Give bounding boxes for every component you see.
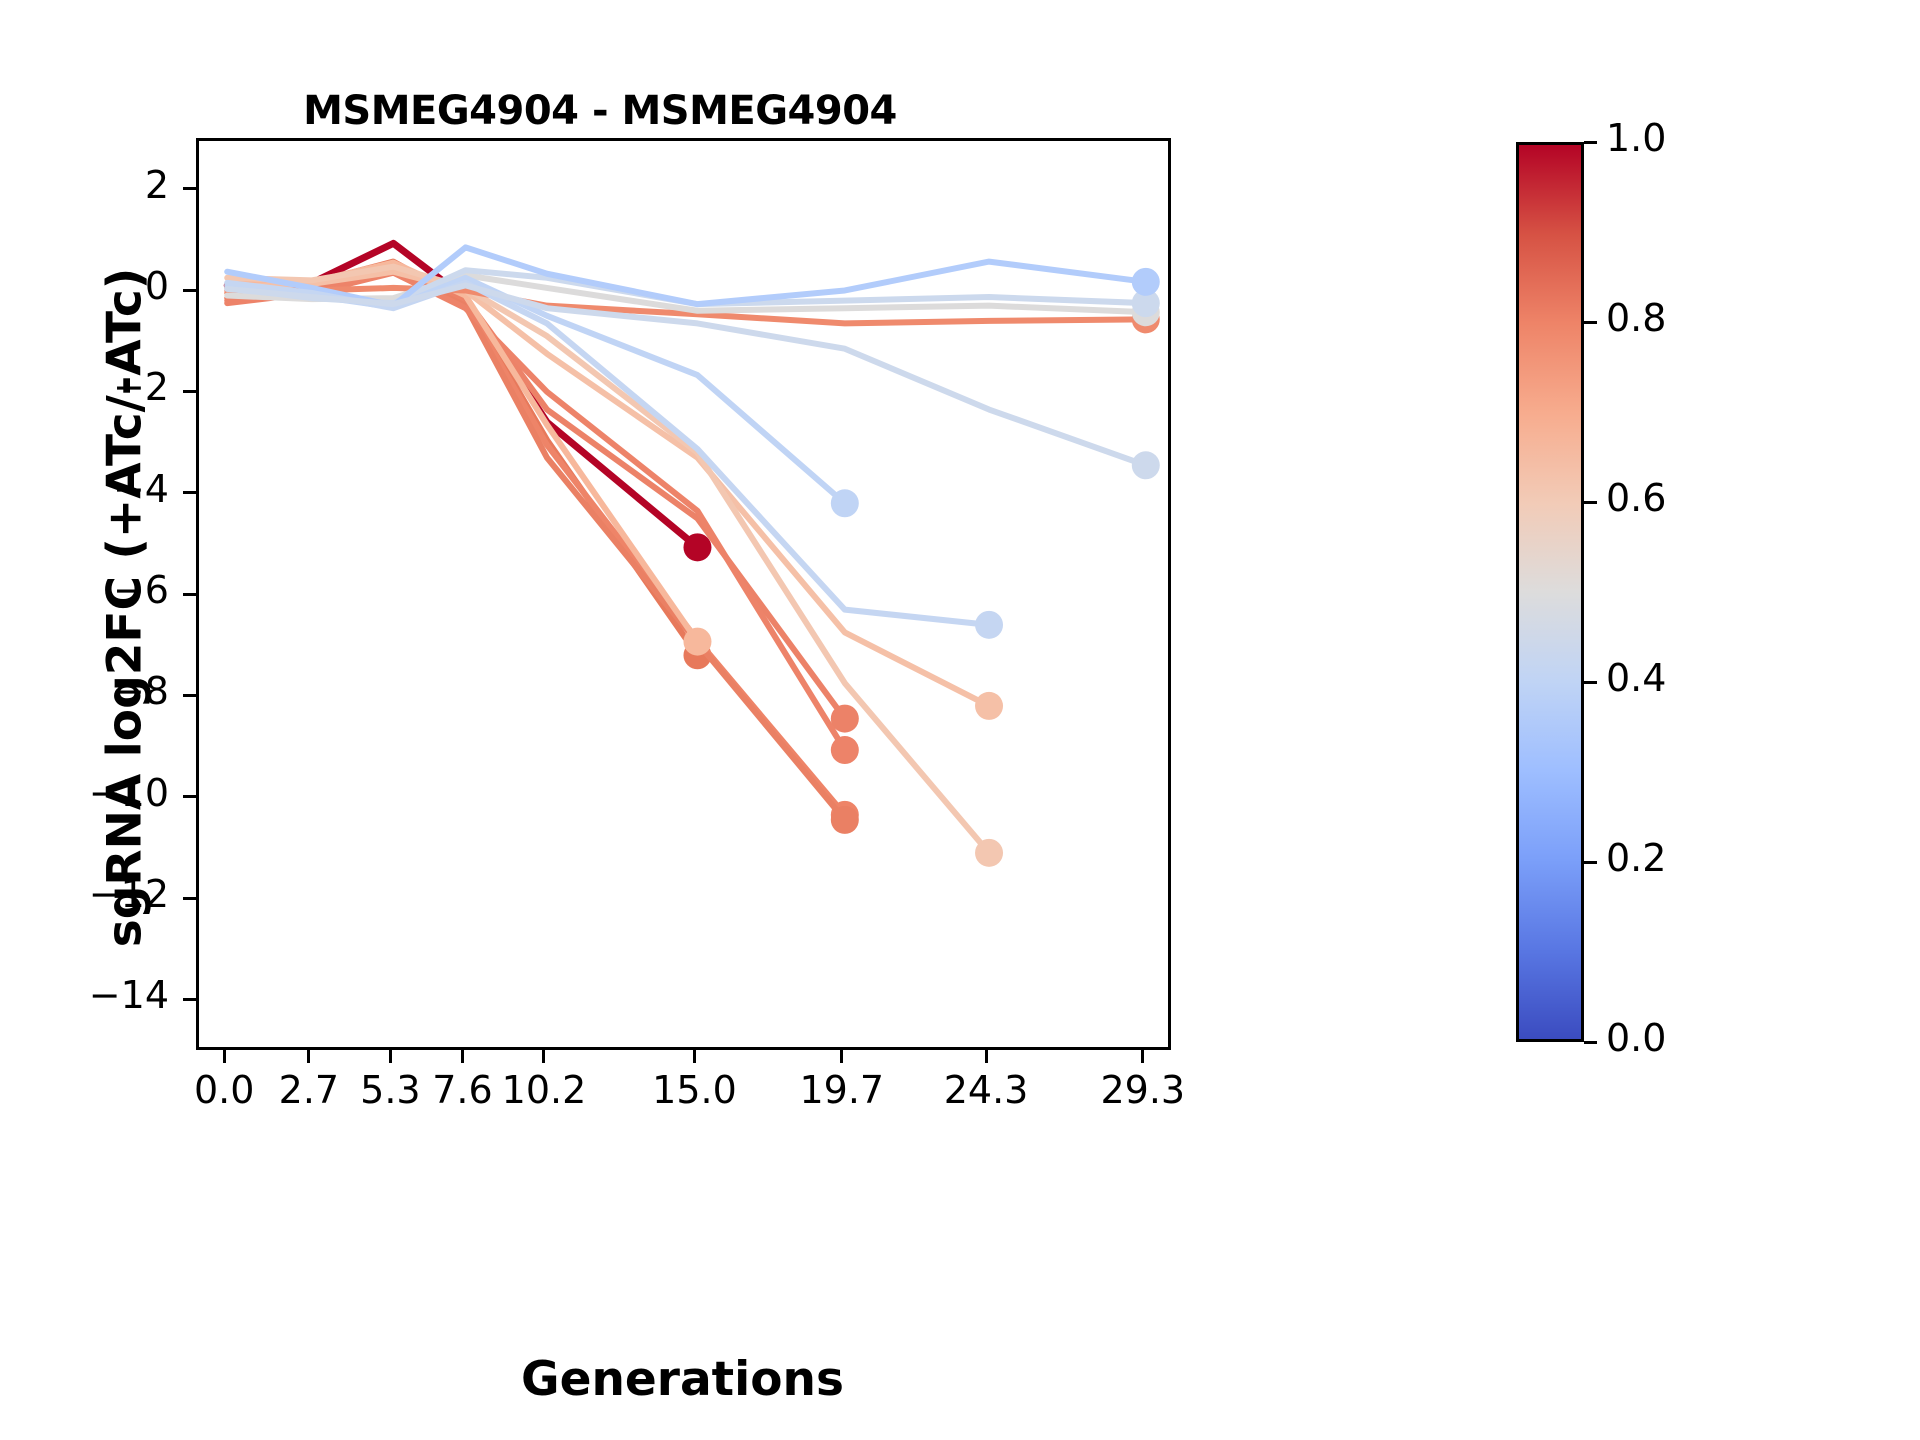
figure-canvas: MSMEG4904 - MSMEG4904 sgRNA log2FC (+ATc… xyxy=(0,0,1920,1440)
x-tick-label: 15.0 xyxy=(624,1068,764,1112)
colorbar[interactable] xyxy=(1516,142,1584,1042)
colorbar-tick-label: 0.8 xyxy=(1606,296,1746,340)
series-endpoint-marker xyxy=(975,692,1003,720)
y-tick-label: −12 xyxy=(19,872,169,916)
series-endpoint-marker xyxy=(975,611,1003,639)
x-tick-mark xyxy=(693,1050,696,1063)
x-tick-mark xyxy=(1141,1050,1144,1063)
y-tick-mark xyxy=(183,593,196,596)
colorbar-tick-mark xyxy=(1584,861,1597,864)
line-plot-svg xyxy=(199,141,1174,1053)
y-tick-mark xyxy=(183,289,196,292)
y-tick-mark xyxy=(183,795,196,798)
colorbar-tick-mark xyxy=(1584,1041,1597,1044)
y-tick-label: 2 xyxy=(19,163,169,207)
series-line xyxy=(227,267,989,853)
series-line xyxy=(227,270,845,820)
series-endpoint-marker xyxy=(975,839,1003,867)
colorbar-tick-label: 0.6 xyxy=(1606,476,1746,520)
colorbar-tick-label: 0.4 xyxy=(1606,656,1746,700)
colorbar-tick-label: 0.0 xyxy=(1606,1016,1746,1060)
y-tick-label: −8 xyxy=(19,669,169,713)
y-tick-mark xyxy=(183,694,196,697)
colorbar-tick-mark xyxy=(1584,141,1597,144)
y-tick-mark xyxy=(183,390,196,393)
colorbar-tick-mark xyxy=(1584,681,1597,684)
series-endpoint-marker xyxy=(831,489,859,517)
series-endpoint-marker xyxy=(831,806,859,834)
y-tick-label: −6 xyxy=(19,568,169,612)
colorbar-gradient xyxy=(1519,145,1581,1039)
x-tick-label: 10.2 xyxy=(474,1068,614,1112)
x-tick-mark xyxy=(542,1050,545,1063)
colorbar-tick-mark xyxy=(1584,321,1597,324)
series-endpoint-marker xyxy=(683,533,711,561)
colorbar-tick-label: 0.2 xyxy=(1606,836,1746,880)
y-tick-mark xyxy=(183,998,196,1001)
y-tick-mark xyxy=(183,187,196,190)
x-tick-mark xyxy=(223,1050,226,1063)
series-endpoint-marker xyxy=(831,736,859,764)
y-tick-label: 0 xyxy=(19,264,169,308)
y-tick-label: −14 xyxy=(19,973,169,1017)
y-tick-label: −2 xyxy=(19,365,169,409)
x-tick-mark xyxy=(985,1050,988,1063)
x-tick-label: 19.7 xyxy=(772,1068,912,1112)
y-tick-mark xyxy=(183,491,196,494)
x-tick-mark xyxy=(389,1050,392,1063)
x-tick-mark xyxy=(461,1050,464,1063)
series-endpoint-marker xyxy=(683,628,711,656)
x-tick-mark xyxy=(840,1050,843,1063)
series-endpoint-marker xyxy=(1132,268,1160,296)
x-tick-label: 24.3 xyxy=(916,1068,1056,1112)
series-endpoint-marker xyxy=(1132,451,1160,479)
y-tick-label: −10 xyxy=(19,771,169,815)
y-tick-mark xyxy=(183,897,196,900)
y-tick-label: −4 xyxy=(19,467,169,511)
colorbar-tick-label: 1.0 xyxy=(1606,116,1746,160)
plot-axes xyxy=(196,138,1171,1050)
x-axis-label: Generations xyxy=(195,1352,1170,1407)
x-tick-label: 29.3 xyxy=(1073,1068,1213,1112)
chart-title: MSMEG4904 - MSMEG4904 xyxy=(0,88,1200,134)
colorbar-tick-mark xyxy=(1584,501,1597,504)
x-tick-mark xyxy=(307,1050,310,1063)
